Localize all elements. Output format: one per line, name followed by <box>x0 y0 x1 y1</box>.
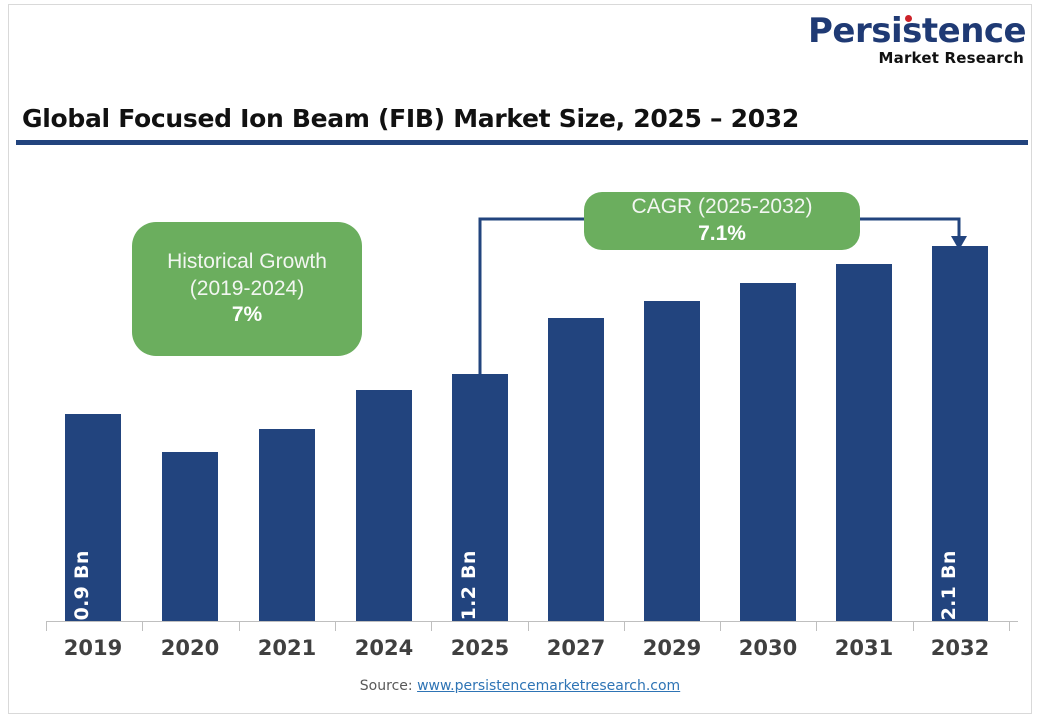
bar-2027[interactable] <box>548 318 604 621</box>
source-line: Source: www.persistencemarketresearch.co… <box>0 678 1040 694</box>
x-axis-label-2019: 2019 <box>45 636 141 660</box>
historical-callout-value: 7% <box>232 302 262 329</box>
bar-2031[interactable] <box>836 264 892 621</box>
x-axis-tick <box>624 622 625 631</box>
cagr-callout: CAGR (2025-2032) 7.1% <box>584 192 860 250</box>
bar-2021[interactable] <box>259 429 315 621</box>
x-axis-tick <box>528 622 529 631</box>
x-axis-label-2021: 2021 <box>239 636 335 660</box>
bar-2025[interactable]: US$1.2 Bn <box>452 374 508 621</box>
x-axis-tick <box>913 622 914 631</box>
historical-callout-line1: Historical Growth <box>167 249 327 276</box>
x-axis-label-2029: 2029 <box>624 636 720 660</box>
x-axis-tick <box>816 622 817 631</box>
bar-2019[interactable]: US$0.9 Bn <box>65 414 121 621</box>
x-axis-label-2030: 2030 <box>720 636 816 660</box>
bar-2032[interactable]: US$2.1 Bn <box>932 246 988 621</box>
bar-2029[interactable] <box>644 301 700 621</box>
chart-page: Persistence Market Research Global Focus… <box>0 0 1040 720</box>
x-axis-tick <box>720 622 721 631</box>
source-link[interactable]: www.persistencemarketresearch.com <box>417 678 680 694</box>
historical-growth-callout: Historical Growth (2019-2024) 7% <box>132 222 362 356</box>
x-axis-tick <box>335 622 336 631</box>
x-axis-tick <box>142 622 143 631</box>
x-axis-tick <box>431 622 432 631</box>
bar-2024[interactable] <box>356 390 412 621</box>
bar-2020[interactable] <box>162 452 218 621</box>
bar-2030[interactable] <box>740 283 796 621</box>
cagr-callout-value: 7.1% <box>698 221 746 248</box>
bar-chart-plot: US$0.9 Bn US$1.2 Bn US$2.1 Bn 2019202020… <box>0 0 1040 720</box>
cagr-callout-line1: CAGR (2025-2032) <box>632 194 813 221</box>
x-axis-label-2025: 2025 <box>432 636 528 660</box>
x-axis-label-2027: 2027 <box>528 636 624 660</box>
x-axis-tick <box>1009 622 1010 631</box>
x-axis-label-2032: 2032 <box>912 636 1008 660</box>
historical-callout-line2: (2019-2024) <box>190 276 304 303</box>
x-axis-label-2031: 2031 <box>816 636 912 660</box>
x-axis-line <box>46 621 1018 622</box>
x-axis-tick <box>46 622 47 631</box>
x-axis-tick <box>239 622 240 631</box>
source-prefix: Source: <box>360 678 417 694</box>
x-axis-label-2024: 2024 <box>336 636 432 660</box>
x-axis-label-2020: 2020 <box>142 636 238 660</box>
